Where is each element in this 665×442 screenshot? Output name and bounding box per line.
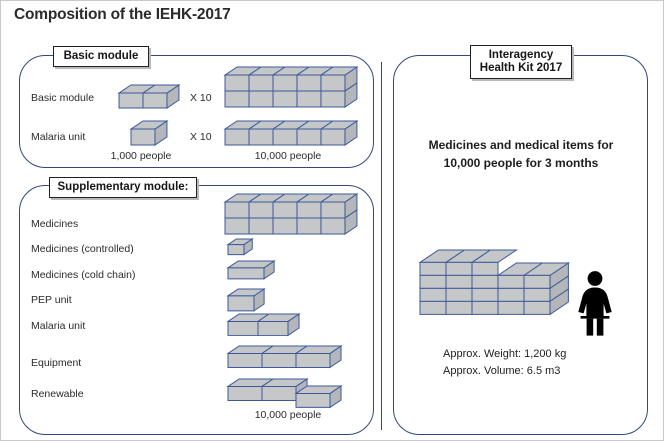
supp-malaria-unit-boxes xyxy=(227,313,300,336)
supplementary-module-header-label: Supplementary module: xyxy=(58,181,189,194)
supplementary-caption: 10,000 people xyxy=(233,409,343,421)
supplementary-module-header-chip: Supplementary module: xyxy=(49,177,197,198)
page-title: Composition of the IEHK-2017 xyxy=(14,6,231,24)
supp-medicines-cold-chain-box xyxy=(227,260,275,280)
supp-row-1-label: Medicines (controlled) xyxy=(31,243,134,255)
basic-unit-caption: 1,000 people xyxy=(96,150,186,162)
female-person-icon xyxy=(574,270,616,336)
supp-renewable-boxes xyxy=(227,378,308,401)
supp-row-3-label: PEP unit xyxy=(31,294,72,306)
supp-row-5-label: Equipment xyxy=(31,357,81,369)
panel-divider xyxy=(381,62,382,430)
malaria-unit-box xyxy=(130,120,168,146)
basic-row-1-label: Malaria unit xyxy=(31,131,85,143)
basic-group-caption: 10,000 people xyxy=(233,150,343,162)
kit-description: Medicines and medical items for 10,000 p… xyxy=(396,136,646,172)
basic-module-header-label: Basic module xyxy=(64,50,139,63)
basic-module-unit-boxes xyxy=(118,84,180,109)
kit-description-line2: 10,000 people for 3 months xyxy=(396,154,646,172)
supp-equipment-boxes xyxy=(227,345,342,368)
basic-module-header-chip: Basic module xyxy=(53,46,149,67)
kit-header-line2: Health Kit 2017 xyxy=(480,62,562,75)
kit-header-chip: Interagency Health Kit 2017 xyxy=(470,45,572,79)
basic-row-0-multiplier: X 10 xyxy=(190,92,212,104)
kit-volume: Approx. Volume: 6.5 m3 xyxy=(443,363,643,380)
kit-header-line1: Interagency xyxy=(489,49,554,62)
supp-medicines-controlled-box xyxy=(227,238,253,256)
malaria-unit-group-boxes xyxy=(224,120,358,146)
supp-pep-unit-box xyxy=(227,288,265,312)
basic-module-group-boxes xyxy=(224,66,358,108)
basic-row-0-label: Basic module xyxy=(31,92,94,104)
supp-row-0-label: Medicines xyxy=(31,218,78,230)
supp-row-4-label: Malaria unit xyxy=(31,320,85,332)
basic-row-1-multiplier: X 10 xyxy=(190,131,212,143)
kit-description-line1: Medicines and medical items for xyxy=(396,136,646,154)
supp-renewable-extra-box xyxy=(295,385,342,408)
kit-box-stack xyxy=(418,248,570,316)
kit-stats: Approx. Weight: 1,200 kg Approx. Volume:… xyxy=(443,346,643,380)
supp-medicines-boxes xyxy=(224,193,358,235)
supp-row-2-label: Medicines (cold chain) xyxy=(31,269,135,281)
kit-weight: Approx. Weight: 1,200 kg xyxy=(443,346,643,363)
supp-row-6-label: Renewable xyxy=(31,388,84,400)
